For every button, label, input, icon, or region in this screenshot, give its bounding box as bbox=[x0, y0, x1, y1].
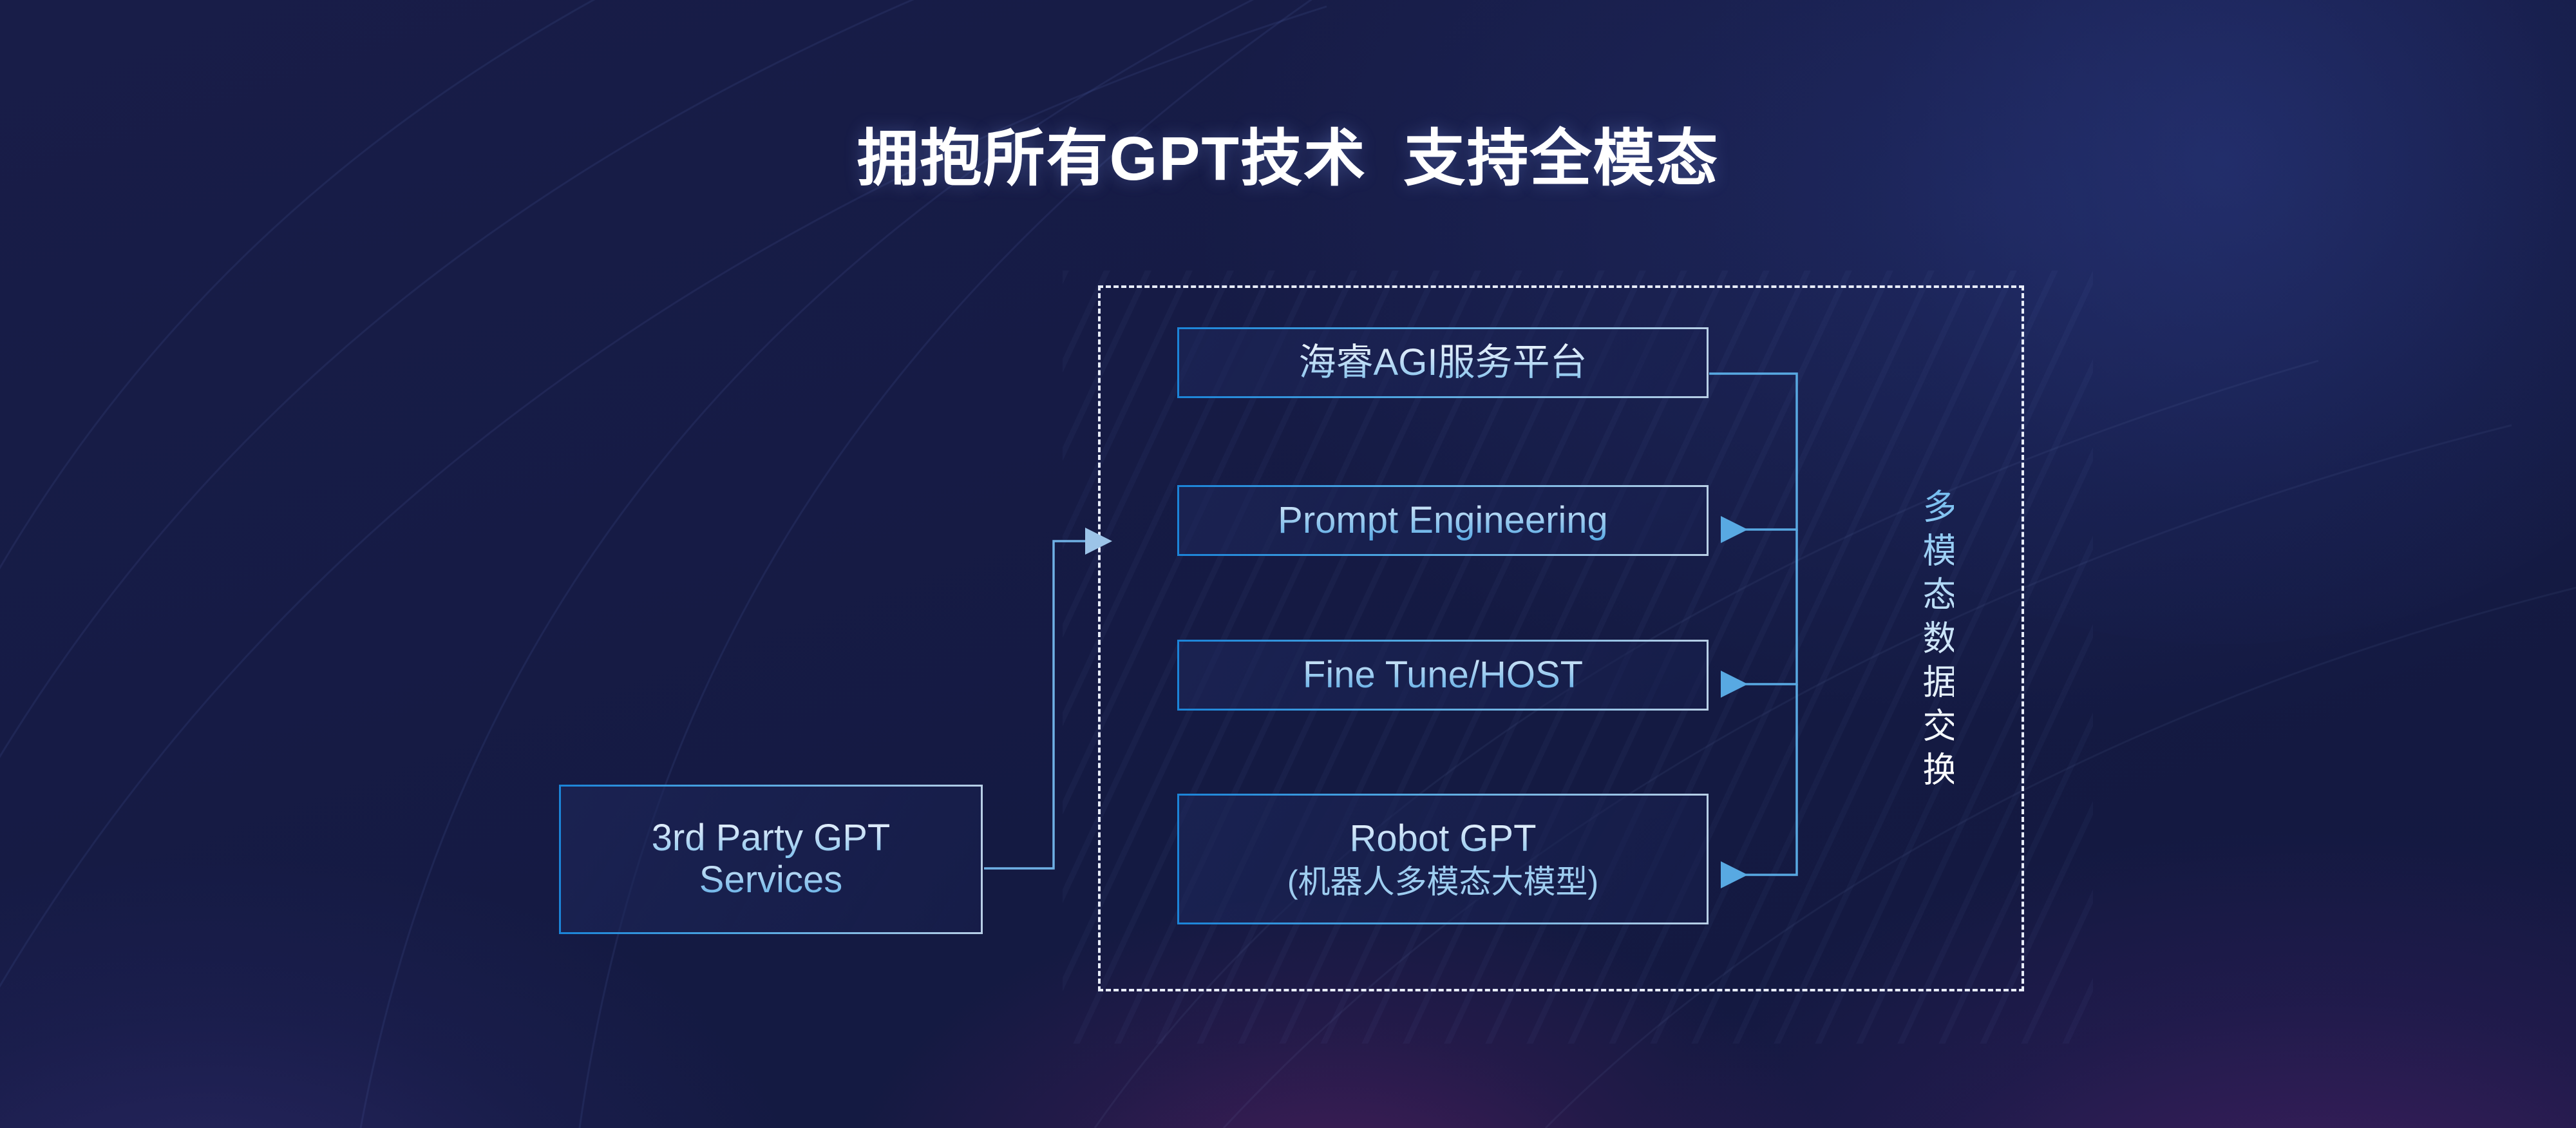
node-third-party-label-line2: Services bbox=[699, 859, 842, 901]
node-robot-gpt-label: Robot GPT bbox=[1349, 818, 1536, 860]
node-fine-tune-host-label: Fine Tune/HOST bbox=[1303, 655, 1583, 696]
page-title: 拥抱所有GPT技术 支持全模态 bbox=[0, 108, 2576, 198]
node-robot-gpt-sublabel: (机器人多模态大模型) bbox=[1287, 864, 1598, 900]
multimodal-data-exchange-label: 多模态数据交换 bbox=[1911, 488, 1954, 795]
node-robot-gpt[interactable]: Robot GPT (机器人多模态大模型) bbox=[1177, 794, 1709, 924]
slide-canvas: 拥抱所有GPT技术 支持全模态 海睿AGI服务平台 bbox=[0, 0, 2576, 1128]
node-agi-platform[interactable]: 海睿AGI服务平台 bbox=[1177, 327, 1709, 398]
node-third-party-gpt-services[interactable]: 3rd Party GPT Services bbox=[559, 785, 983, 934]
node-third-party-label-line1: 3rd Party GPT bbox=[652, 817, 891, 859]
node-fine-tune-host[interactable]: Fine Tune/HOST bbox=[1177, 640, 1709, 711]
node-prompt-engineering-label: Prompt Engineering bbox=[1278, 500, 1608, 542]
node-agi-platform-label: 海睿AGI服务平台 bbox=[1299, 342, 1587, 384]
node-prompt-engineering[interactable]: Prompt Engineering bbox=[1177, 485, 1709, 556]
